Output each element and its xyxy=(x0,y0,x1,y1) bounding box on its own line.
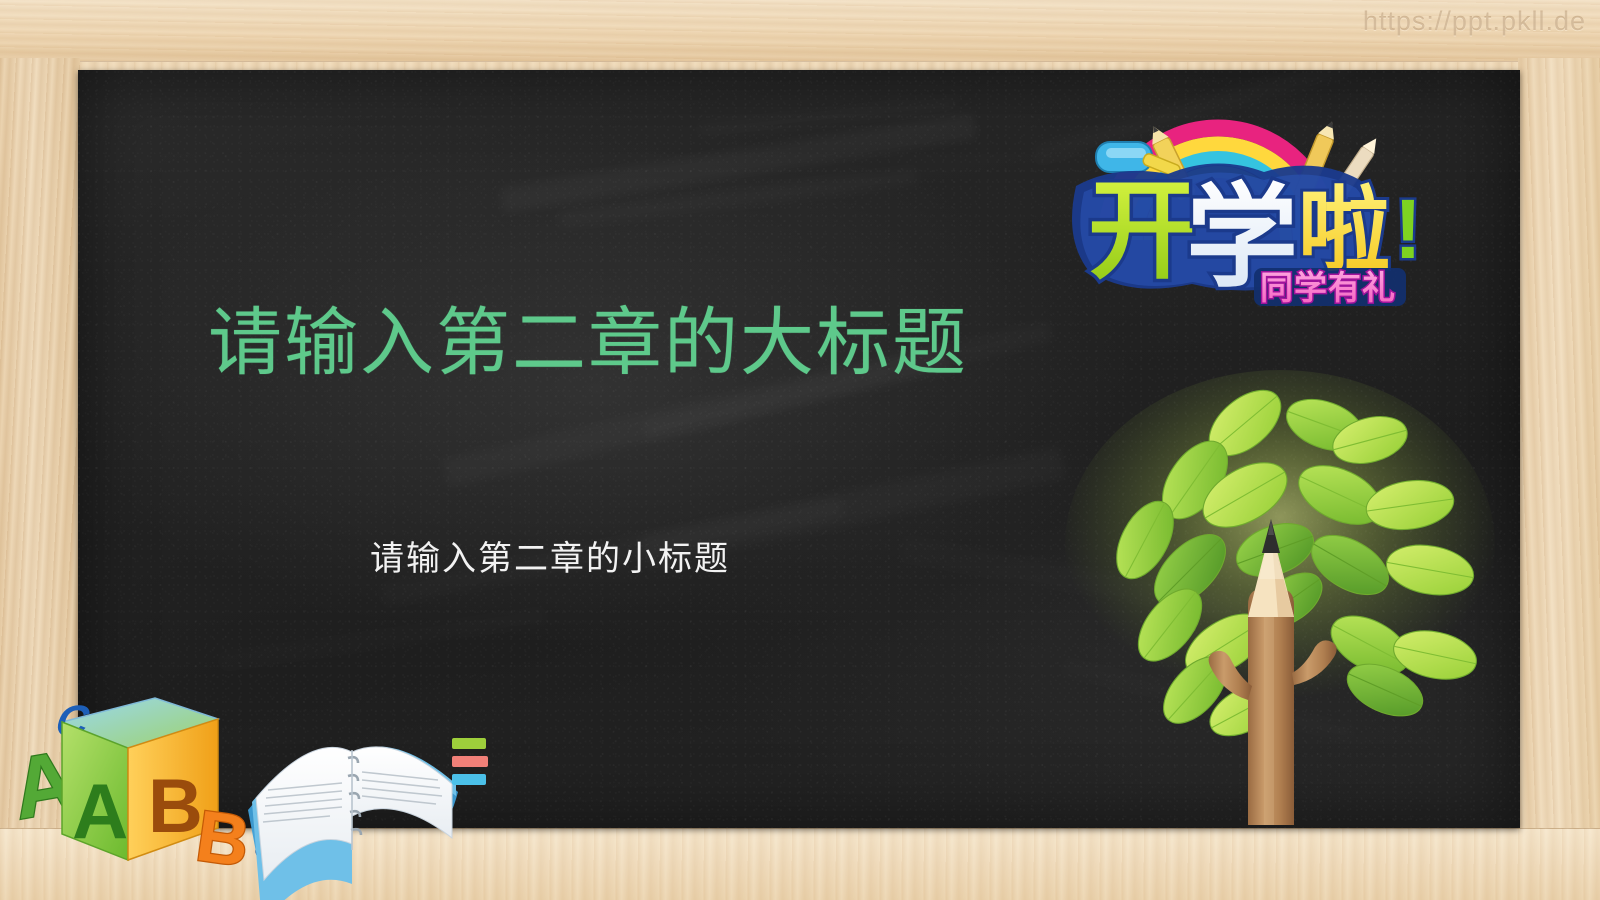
watermark-url: https://ppt.pkll.de xyxy=(1363,6,1586,37)
bookmark-tab-green xyxy=(452,738,486,749)
svg-text:B: B xyxy=(191,796,254,882)
section-subtitle: 请输入第二章的小标题 xyxy=(370,531,730,580)
wood-frame-top-rail xyxy=(0,0,1600,62)
chalk-smudge xyxy=(558,168,917,228)
cube-side-letter: B xyxy=(148,764,203,849)
back-to-school-logo: 开 学 啦 ! 同学有礼 xyxy=(1058,100,1458,315)
slide-canvas: 请输入第二章的大标题 请输入第二章的小标题 https://ppt.pkll.d… xyxy=(0,0,1600,900)
loose-letter-b: B xyxy=(191,796,254,882)
section-title: 请输入第二章的大标题 xyxy=(208,283,968,390)
abc-blocks-and-book-illustration: A C A B B C xyxy=(0,620,500,900)
bookmark-tab-blue xyxy=(452,774,486,785)
bookmark-tab-red xyxy=(452,756,488,767)
logo-char-kai: 开 xyxy=(1088,169,1196,294)
chalk-smudge xyxy=(698,96,958,137)
wood-frame-right-post xyxy=(1518,58,1600,836)
cube-front-letter: A xyxy=(72,767,128,855)
open-book xyxy=(248,738,488,900)
abc-cube: C A B xyxy=(49,696,218,860)
logo-subtext: 同学有礼 xyxy=(1260,268,1396,307)
pencil-tree-illustration xyxy=(1040,355,1510,830)
chalk-smudge xyxy=(499,113,977,214)
logo-exclamation: ! xyxy=(1394,182,1422,276)
